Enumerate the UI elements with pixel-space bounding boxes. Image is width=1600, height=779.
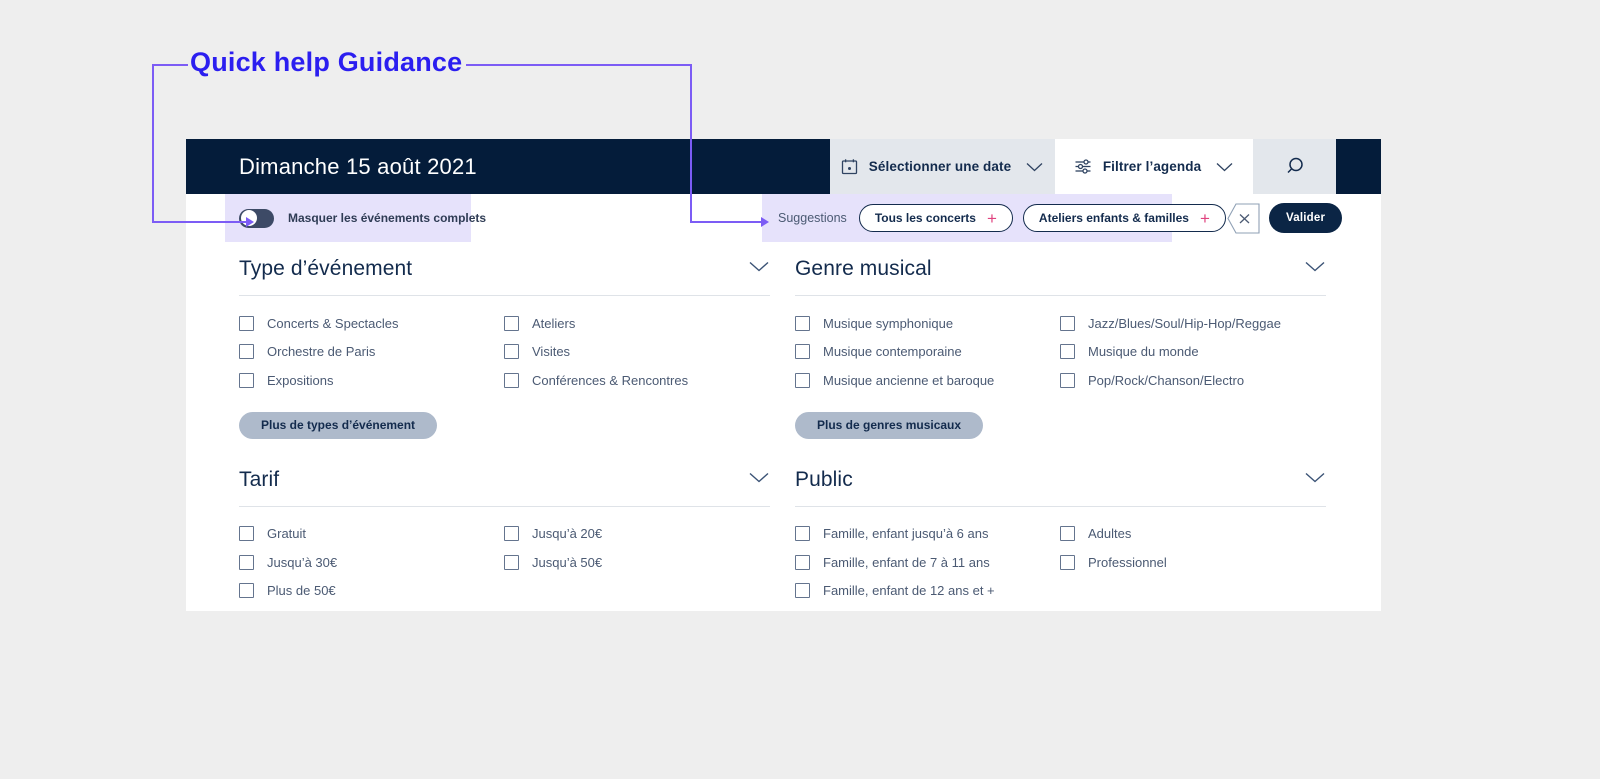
checkbox-option[interactable]: Jusqu’à 20€: [504, 520, 770, 549]
option-label: Orchestre de Paris: [267, 344, 375, 359]
checkbox[interactable]: [1060, 316, 1075, 331]
more-button-label: Plus de types d’événement: [261, 418, 415, 432]
checkbox[interactable]: [504, 555, 519, 570]
checkbox[interactable]: [795, 583, 810, 598]
annotation-line-right-horizontal: [690, 221, 762, 223]
search-icon: [1283, 155, 1306, 178]
checkbox[interactable]: [239, 583, 254, 598]
option-label: Pop/Rock/Chanson/Electro: [1088, 373, 1244, 388]
option-label: Famille, enfant de 7 à 11 ans: [823, 555, 990, 570]
section-header[interactable]: Genre musical: [795, 257, 1326, 296]
chevron-down-icon[interactable]: [748, 471, 770, 489]
checkbox-option[interactable]: Musique ancienne et baroque: [795, 366, 1060, 395]
secondary-toolbar: Masquer les événements complets Suggesti…: [186, 194, 1381, 242]
suggestions-group: Suggestions Tous les concerts + Ateliers…: [778, 194, 1226, 242]
checkbox[interactable]: [239, 316, 254, 331]
checkbox-option[interactable]: Orchestre de Paris: [239, 338, 504, 367]
close-button[interactable]: [1227, 202, 1260, 235]
checkbox[interactable]: [504, 373, 519, 388]
option-label: Famille, enfant jusqu’à 6 ans: [823, 526, 988, 541]
option-label: Ateliers: [532, 316, 575, 331]
checkbox[interactable]: [504, 526, 519, 541]
checkbox-option[interactable]: Jusqu’à 30€: [239, 548, 504, 577]
checkbox-option[interactable]: Jusqu’à 50€: [504, 548, 770, 577]
action-buttons: Valider: [1227, 194, 1342, 242]
screenshot-stage: Quick help Guidance Dimanche 15 août 202…: [0, 0, 1600, 779]
checkbox[interactable]: [795, 555, 810, 570]
option-label: Gratuit: [267, 526, 306, 541]
option-label: Jazz/Blues/Soul/Hip-Hop/Reggae: [1088, 316, 1281, 331]
checkbox-option[interactable]: Adultes: [1060, 520, 1326, 549]
filter-agenda-label: Filtrer l’agenda: [1103, 159, 1201, 174]
plus-icon: +: [987, 210, 997, 227]
option-label: Jusqu’à 20€: [532, 526, 602, 541]
sliders-icon: [1074, 158, 1092, 175]
option-label: Jusqu’à 30€: [267, 555, 337, 570]
checkbox-option[interactable]: Visites: [504, 338, 770, 367]
checkbox[interactable]: [1060, 555, 1075, 570]
filter-agenda-button[interactable]: Filtrer l’agenda: [1055, 139, 1253, 194]
checkbox-option[interactable]: Ateliers: [504, 309, 770, 338]
option-placeholder: [1060, 577, 1326, 606]
annotation-arrow-left: [246, 217, 254, 227]
chip-label: Tous les concerts: [875, 211, 976, 225]
grid-spacer: [239, 439, 770, 468]
quick-help-guidance-title: Quick help Guidance: [188, 47, 466, 78]
filter-grid: Type d’événement Concerts & Spectacles: [239, 257, 1326, 605]
chevron-down-icon[interactable]: [1304, 260, 1326, 278]
filter-section-public: Public Famille, enfant jusqu’à 6 ans: [795, 468, 1326, 606]
checkbox-option[interactable]: Expositions: [239, 366, 504, 395]
checkbox-option[interactable]: Jazz/Blues/Soul/Hip-Hop/Reggae: [1060, 309, 1326, 338]
section-options: Concerts & Spectacles Ateliers Orchestre…: [239, 296, 770, 395]
option-label: Concerts & Spectacles: [267, 316, 399, 331]
option-label: Musique du monde: [1088, 344, 1199, 359]
checkbox-option[interactable]: Gratuit: [239, 520, 504, 549]
section-header[interactable]: Public: [795, 468, 1326, 507]
checkbox[interactable]: [795, 344, 810, 359]
toggle-switch[interactable]: [239, 209, 274, 228]
checkbox[interactable]: [239, 555, 254, 570]
option-label: Adultes: [1088, 526, 1131, 541]
checkbox-option[interactable]: Musique contemporaine: [795, 338, 1060, 367]
checkbox[interactable]: [1060, 526, 1075, 541]
option-label: Visites: [532, 344, 570, 359]
checkbox-option[interactable]: Famille, enfant de 7 à 11 ans: [795, 548, 1060, 577]
checkbox[interactable]: [239, 373, 254, 388]
checkbox[interactable]: [795, 526, 810, 541]
checkbox[interactable]: [239, 526, 254, 541]
checkbox-option[interactable]: Famille, enfant jusqu’à 6 ans: [795, 520, 1060, 549]
checkbox[interactable]: [1060, 344, 1075, 359]
annotation-line-left-horizontal: [152, 221, 247, 223]
page-title: Dimanche 15 août 2021: [186, 139, 830, 194]
option-placeholder: [504, 577, 770, 606]
annotation-arrow-right: [761, 217, 769, 227]
more-types-button[interactable]: Plus de types d’événement: [239, 412, 437, 439]
agenda-filter-panel: Dimanche 15 août 2021 Sélectionner une d…: [186, 139, 1381, 611]
chevron-down-icon[interactable]: [748, 260, 770, 278]
chevron-down-icon: [1025, 161, 1044, 173]
option-label: Musique ancienne et baroque: [823, 373, 994, 388]
option-label: Famille, enfant de 12 ans et +: [823, 583, 995, 598]
option-label: Jusqu’à 50€: [532, 555, 602, 570]
suggestion-chip-tous-les-concerts[interactable]: Tous les concerts +: [859, 204, 1013, 232]
search-button[interactable]: [1253, 139, 1336, 194]
validate-button[interactable]: Valider: [1269, 203, 1342, 233]
section-options: Gratuit Jusqu’à 20€ Jusqu’à 30€ Jusqu’à …: [239, 507, 770, 606]
checkbox-option[interactable]: Concerts & Spectacles: [239, 309, 504, 338]
option-label: Professionnel: [1088, 555, 1167, 570]
checkbox-option[interactable]: Pop/Rock/Chanson/Electro: [1060, 366, 1326, 395]
option-label: Expositions: [267, 373, 333, 388]
filter-section-tarif: Tarif Gratuit Jusqu’à 20€: [239, 468, 770, 606]
section-title: Tarif: [239, 468, 279, 492]
section-title: Public: [795, 468, 853, 492]
checkbox[interactable]: [239, 344, 254, 359]
hide-full-events-toggle[interactable]: Masquer les événements complets: [239, 194, 486, 242]
checkbox-option[interactable]: Plus de 50€: [239, 577, 504, 606]
toggle-label: Masquer les événements complets: [288, 211, 486, 225]
chevron-down-icon[interactable]: [1304, 471, 1326, 489]
checkbox-option[interactable]: Professionnel: [1060, 548, 1326, 577]
checkbox[interactable]: [1060, 373, 1075, 388]
section-options: Musique symphonique Jazz/Blues/Soul/Hip-…: [795, 296, 1326, 395]
more-button-label: Plus de genres musicaux: [817, 418, 961, 432]
suggestions-label: Suggestions: [778, 211, 847, 225]
calendar-icon: [841, 158, 858, 175]
annotation-line-left-vertical: [152, 64, 154, 222]
checkbox[interactable]: [795, 373, 810, 388]
chevron-down-icon: [1215, 161, 1234, 173]
plus-icon: +: [1200, 210, 1210, 227]
option-label: Musique symphonique: [823, 316, 953, 331]
section-title: Genre musical: [795, 257, 932, 281]
section-header[interactable]: Tarif: [239, 468, 770, 507]
checkbox-option[interactable]: Conférences & Rencontres: [504, 366, 770, 395]
top-bar: Dimanche 15 août 2021 Sélectionner une d…: [186, 139, 1381, 194]
checkbox[interactable]: [795, 316, 810, 331]
more-genres-button[interactable]: Plus de genres musicaux: [795, 412, 983, 439]
checkbox-option[interactable]: Musique du monde: [1060, 338, 1326, 367]
filter-section-type-evenement: Type d’événement Concerts & Spectacles: [239, 257, 770, 439]
filter-section-genre-musical: Genre musical Musique symphonique Ja: [795, 257, 1326, 439]
section-options: Famille, enfant jusqu’à 6 ans Adultes Fa…: [795, 507, 1326, 606]
option-label: Plus de 50€: [267, 583, 336, 598]
top-bar-filler: [1336, 139, 1381, 194]
select-date-button[interactable]: Sélectionner une date: [830, 139, 1055, 194]
chip-label: Ateliers enfants & familles: [1039, 211, 1189, 225]
grid-spacer: [795, 439, 1326, 468]
select-date-label: Sélectionner une date: [869, 159, 1011, 174]
validate-label: Valider: [1286, 212, 1325, 224]
annotation-line-right-vertical: [690, 64, 692, 222]
suggestion-chip-ateliers-enfants-familles[interactable]: Ateliers enfants & familles +: [1023, 204, 1226, 232]
section-header[interactable]: Type d’événement: [239, 257, 770, 296]
checkbox-option[interactable]: Famille, enfant de 12 ans et +: [795, 577, 1060, 606]
section-title: Type d’événement: [239, 257, 412, 281]
option-label: Conférences & Rencontres: [532, 373, 688, 388]
checkbox-option[interactable]: Musique symphonique: [795, 309, 1060, 338]
option-label: Musique contemporaine: [823, 344, 962, 359]
checkbox[interactable]: [504, 344, 519, 359]
checkbox[interactable]: [504, 316, 519, 331]
